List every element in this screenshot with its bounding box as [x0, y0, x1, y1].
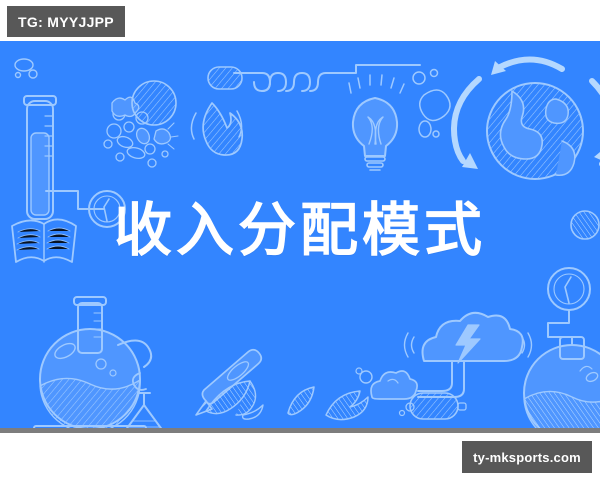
fountain-pen-icon — [196, 350, 261, 415]
leaf-feather-3-icon — [326, 391, 368, 420]
bacteria-cluster-icon — [104, 97, 178, 167]
hatched-pill-2-icon — [410, 393, 466, 419]
leaf-feather-2-icon — [288, 387, 314, 415]
hatched-pill-icon — [208, 67, 242, 89]
round-bottom-flask-icon — [34, 297, 151, 428]
amoeba-blob-icon — [413, 70, 450, 138]
bubbles-icon — [15, 59, 37, 78]
globe-recycle-icon — [454, 59, 600, 179]
page-title: 收入分配模式 — [0, 201, 600, 259]
tg-handle-badge: TG: MYYJJPP — [7, 6, 125, 37]
connector-tube-2 — [548, 310, 572, 357]
cloud-lightning-icon — [405, 313, 532, 397]
site-watermark: ty-mksports.com — [462, 441, 592, 473]
leaf-feather-1-icon — [206, 381, 263, 419]
round-flask-liquid-icon — [524, 337, 600, 428]
poster-image: 收入分配模式 — [0, 41, 600, 428]
flame-icon — [191, 103, 242, 155]
coil-tube-icon — [234, 65, 420, 91]
small-cloud-icon — [356, 368, 417, 416]
bottom-separator-band — [0, 428, 600, 433]
gauge-dial-2-icon — [548, 268, 590, 310]
hatched-sphere-icon — [132, 81, 176, 125]
lightbulb-icon — [349, 75, 404, 170]
screenshot-canvas: TG: MYYJJPP — [0, 0, 600, 480]
erlenmeyer-flask-icon — [122, 373, 166, 428]
